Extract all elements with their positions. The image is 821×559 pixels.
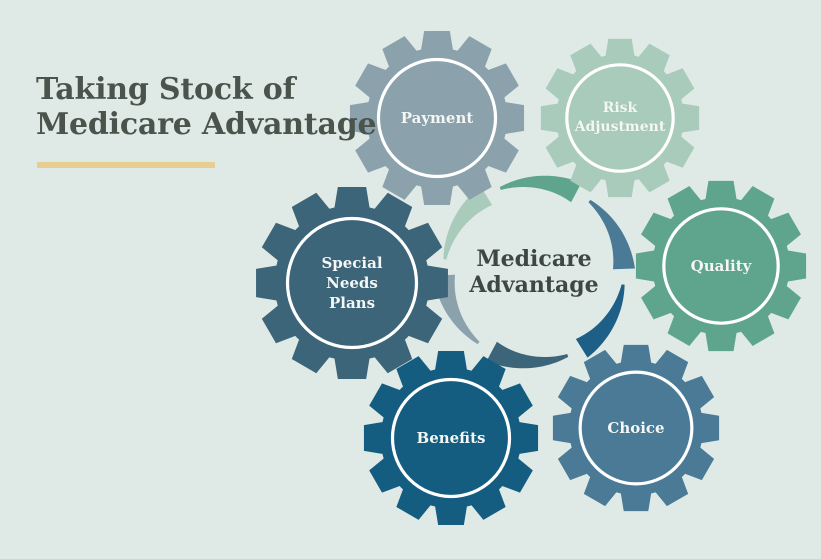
gear-hub-quality [652,197,790,335]
page-title-line-2: Medicare Advantage [36,107,366,142]
gear-hub-benefits [381,368,522,509]
gear-hub-risk-adjustment [556,54,684,182]
page-title: Taking Stock of Medicare Advantage [36,72,366,142]
gear-hub-special-needs-plans [274,205,429,360]
gear-hub-payment [367,48,508,189]
page-title-line-1: Taking Stock of [36,72,366,107]
title-underline-rule [37,162,215,168]
gear-hub-choice [569,361,703,495]
